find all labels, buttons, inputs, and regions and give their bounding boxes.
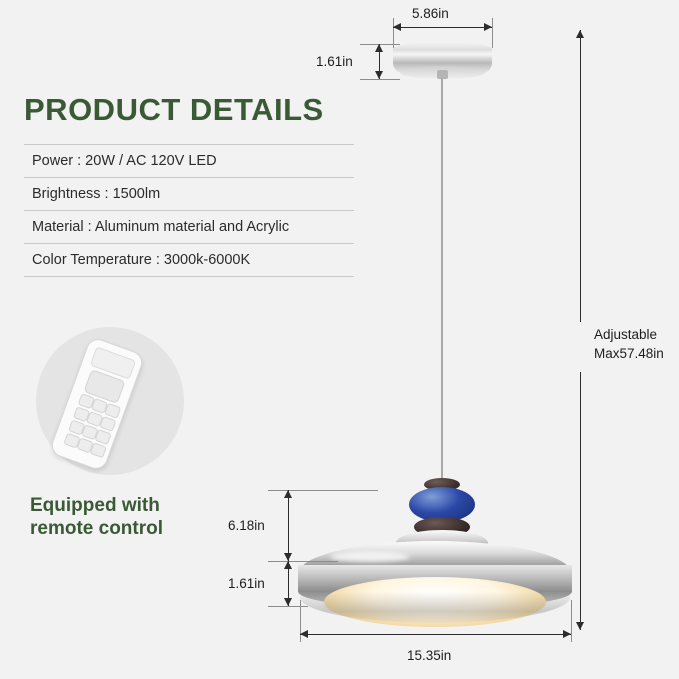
dim-line-adjustable-upper [580, 30, 581, 322]
remote-caption: Equipped with remote control [30, 494, 240, 540]
ceiling-canopy [393, 42, 492, 80]
spec-row: Material : Aluminum material and Acrylic [24, 211, 354, 244]
dim-line-shade-width [300, 634, 571, 635]
arrow-down [375, 71, 383, 79]
dim-label-adjustable-line1: Adjustable [594, 327, 657, 342]
dim-line-shade-drop [288, 490, 289, 561]
remote-caption-line1: Equipped with [30, 495, 160, 516]
shade-highlight [330, 552, 410, 562]
dim-line-adjustable-lower [580, 372, 581, 630]
suspension-cord [441, 78, 443, 484]
spec-row: Brightness : 1500lm [24, 178, 354, 211]
arrow-down [284, 553, 292, 561]
ext-line-shade-bottom [268, 606, 308, 607]
dim-label-adjustable-line2: Max57.48in [594, 346, 664, 361]
spec-row: Power : 20W / AC 120V LED [24, 144, 354, 178]
arrow-left [300, 630, 308, 638]
arrow-down [576, 622, 584, 630]
shade-diffuser [324, 577, 546, 627]
dim-line-canopy-width [393, 27, 492, 28]
arrow-right [484, 23, 492, 31]
spec-list: Power : 20W / AC 120V LED Brightness : 1… [24, 144, 354, 277]
dim-label-canopy-width: 5.86in [412, 6, 449, 21]
remote-button [90, 442, 107, 458]
ext-line-canopy-right [492, 18, 493, 48]
arrow-down [284, 598, 292, 606]
product-detail-infographic: PRODUCT DETAILS Power : 20W / AC 120V LE… [0, 0, 679, 679]
remote-caption-line2: remote control [30, 518, 163, 539]
ext-line-width-right [571, 600, 572, 642]
arrow-up [375, 44, 383, 52]
arrow-left [393, 23, 401, 31]
spec-row: Color Temperature : 3000k-6000K [24, 244, 354, 277]
arrow-right [563, 630, 571, 638]
dim-label-shade-drop: 6.18in [228, 518, 265, 533]
arrow-up [576, 30, 584, 38]
arrow-up [284, 561, 292, 569]
page-title: PRODUCT DETAILS [24, 92, 324, 128]
dim-label-shade-height: 1.61in [228, 576, 265, 591]
ext-line-drop-bottom [268, 561, 338, 562]
dim-label-shade-width: 15.35in [407, 648, 451, 663]
dim-label-canopy-height: 1.61in [316, 54, 353, 69]
ext-line-canopy-bottom [360, 79, 400, 80]
arrow-up [284, 490, 292, 498]
